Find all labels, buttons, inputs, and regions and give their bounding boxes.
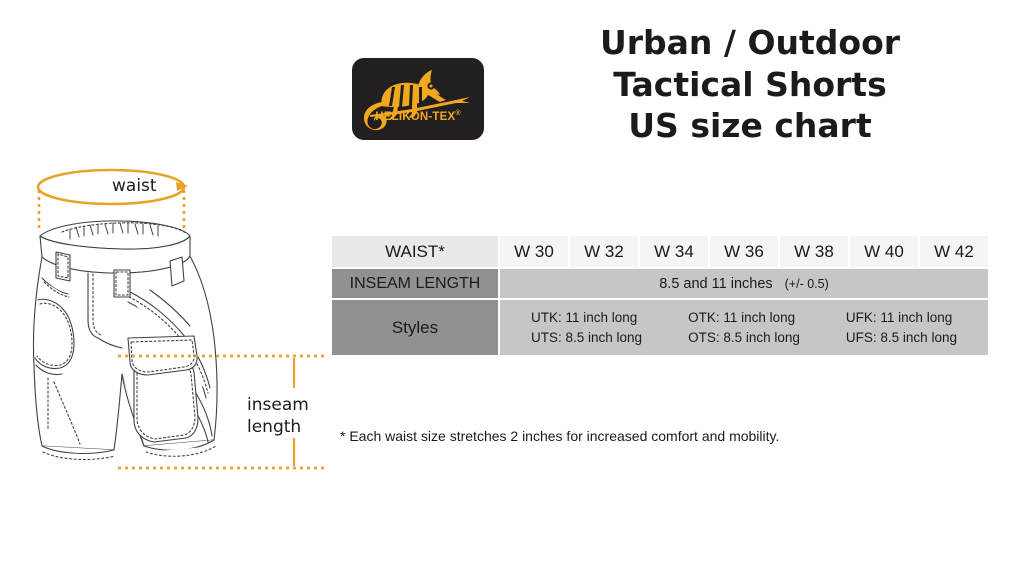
style-ots: OTS: 8.5 inch long [688,328,800,347]
style-ufs: UFS: 8.5 inch long [846,328,957,347]
styles-value-cell: UTK: 11 inch long UTS: 8.5 inch long OTK… [500,300,988,355]
waist-size-cells: W 30 W 32 W 34 W 36 W 38 W 40 W 42 [500,236,988,267]
inseam-label-line-2: length [247,416,309,438]
size-cell-w36: W 36 [710,236,778,267]
title-line-2: Tactical Shorts [520,64,980,106]
size-cell-w30: W 30 [500,236,568,267]
inseam-length-value: 8.5 and 11 inches [659,276,772,292]
inseam-length-label: inseam length [247,394,309,439]
table-row-styles: Styles UTK: 11 inch long UTS: 8.5 inch l… [332,300,988,355]
style-otk: OTK: 11 inch long [688,308,800,327]
row-header-waist: WAIST* [332,236,498,267]
logo-wordmark-text: HELIKON-TEX [375,111,455,123]
style-utk: UTK: 11 inch long [531,308,642,327]
waist-label: waist [112,176,157,196]
footnote-text: * Each waist size stretches 2 inches for… [340,428,779,444]
size-chart-table: WAIST* W 30 W 32 W 34 W 36 W 38 W 40 W 4… [332,236,988,357]
logo-wordmark: HELIKON-TEX® [352,110,484,123]
chameleon-logo-icon [352,58,484,140]
inseam-length-value-cell: 8.5 and 11 inches (+/- 0.5) [500,269,988,298]
size-cell-w40: W 40 [850,236,918,267]
title-line-3: US size chart [520,105,980,147]
registered-mark-icon: ® [455,110,460,117]
style-ufk: UFK: 11 inch long [846,308,957,327]
size-cell-w38: W 38 [780,236,848,267]
table-row-waist: WAIST* W 30 W 32 W 34 W 36 W 38 W 40 W 4… [332,236,988,267]
page-title: Urban / Outdoor Tactical Shorts US size … [520,22,980,147]
shorts-outline [33,221,217,460]
waist-measure-ellipse [38,170,184,204]
size-cell-w34: W 34 [640,236,708,267]
tactical-shorts-illustration [18,160,348,500]
inseam-length-tolerance: (+/- 0.5) [785,277,829,291]
inseam-label-line-1: inseam [247,394,309,416]
size-cell-w42: W 42 [920,236,988,267]
title-line-1: Urban / Outdoor [520,22,980,64]
size-cell-w32: W 32 [570,236,638,267]
row-header-inseam-length: INSEAM LENGTH [332,269,498,298]
table-row-inseam: INSEAM LENGTH 8.5 and 11 inches (+/- 0.5… [332,269,988,298]
style-group-ut: UTK: 11 inch long UTS: 8.5 inch long [531,308,642,346]
style-group-ot: OTK: 11 inch long OTS: 8.5 inch long [688,308,800,346]
row-header-styles: Styles [332,300,498,355]
style-uts: UTS: 8.5 inch long [531,328,642,347]
brand-logo: HELIKON-TEX® [352,58,484,140]
style-group-uf: UFK: 11 inch long UFS: 8.5 inch long [846,308,957,346]
